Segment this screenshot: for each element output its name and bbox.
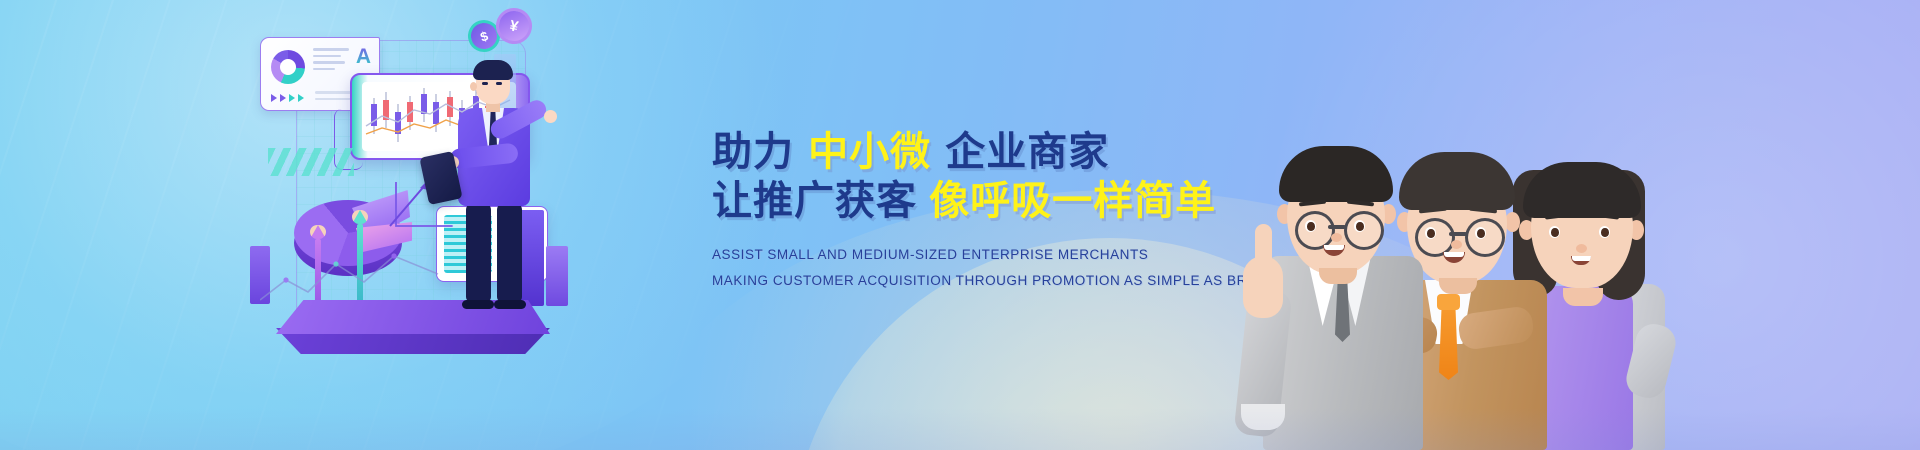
business-analytics-illustration: A xyxy=(240,10,620,370)
headline-1-highlight: 中小微 xyxy=(806,128,933,177)
hair xyxy=(1279,146,1393,202)
podium-platform xyxy=(248,300,578,358)
play-triangles-icon xyxy=(271,94,304,102)
promo-banner: A xyxy=(0,0,1920,450)
headline-1-before: 助力 xyxy=(712,130,794,174)
three-3d-business-characters xyxy=(1245,128,1675,450)
businessman-character xyxy=(436,58,556,308)
hatch-stripes-icon xyxy=(268,148,354,176)
hair xyxy=(473,60,513,80)
legs xyxy=(464,202,524,306)
bottom-shadow xyxy=(0,408,1920,450)
letter-a-badge: A xyxy=(356,46,371,67)
orange-tie xyxy=(1439,304,1458,380)
character-man-grey-suit-pointing xyxy=(1245,128,1435,450)
headline-2-highlight: 像呼吸一样简单 xyxy=(929,179,1216,223)
grey-tie xyxy=(1335,280,1350,342)
index-finger xyxy=(1255,224,1272,276)
pointing-hand xyxy=(544,110,557,123)
headline-1-after: 企业商家 xyxy=(945,130,1109,174)
donut-chart-icon xyxy=(271,50,305,84)
text-lines-icon xyxy=(313,48,349,74)
headline-2-before: 让推广获客 xyxy=(712,179,917,223)
